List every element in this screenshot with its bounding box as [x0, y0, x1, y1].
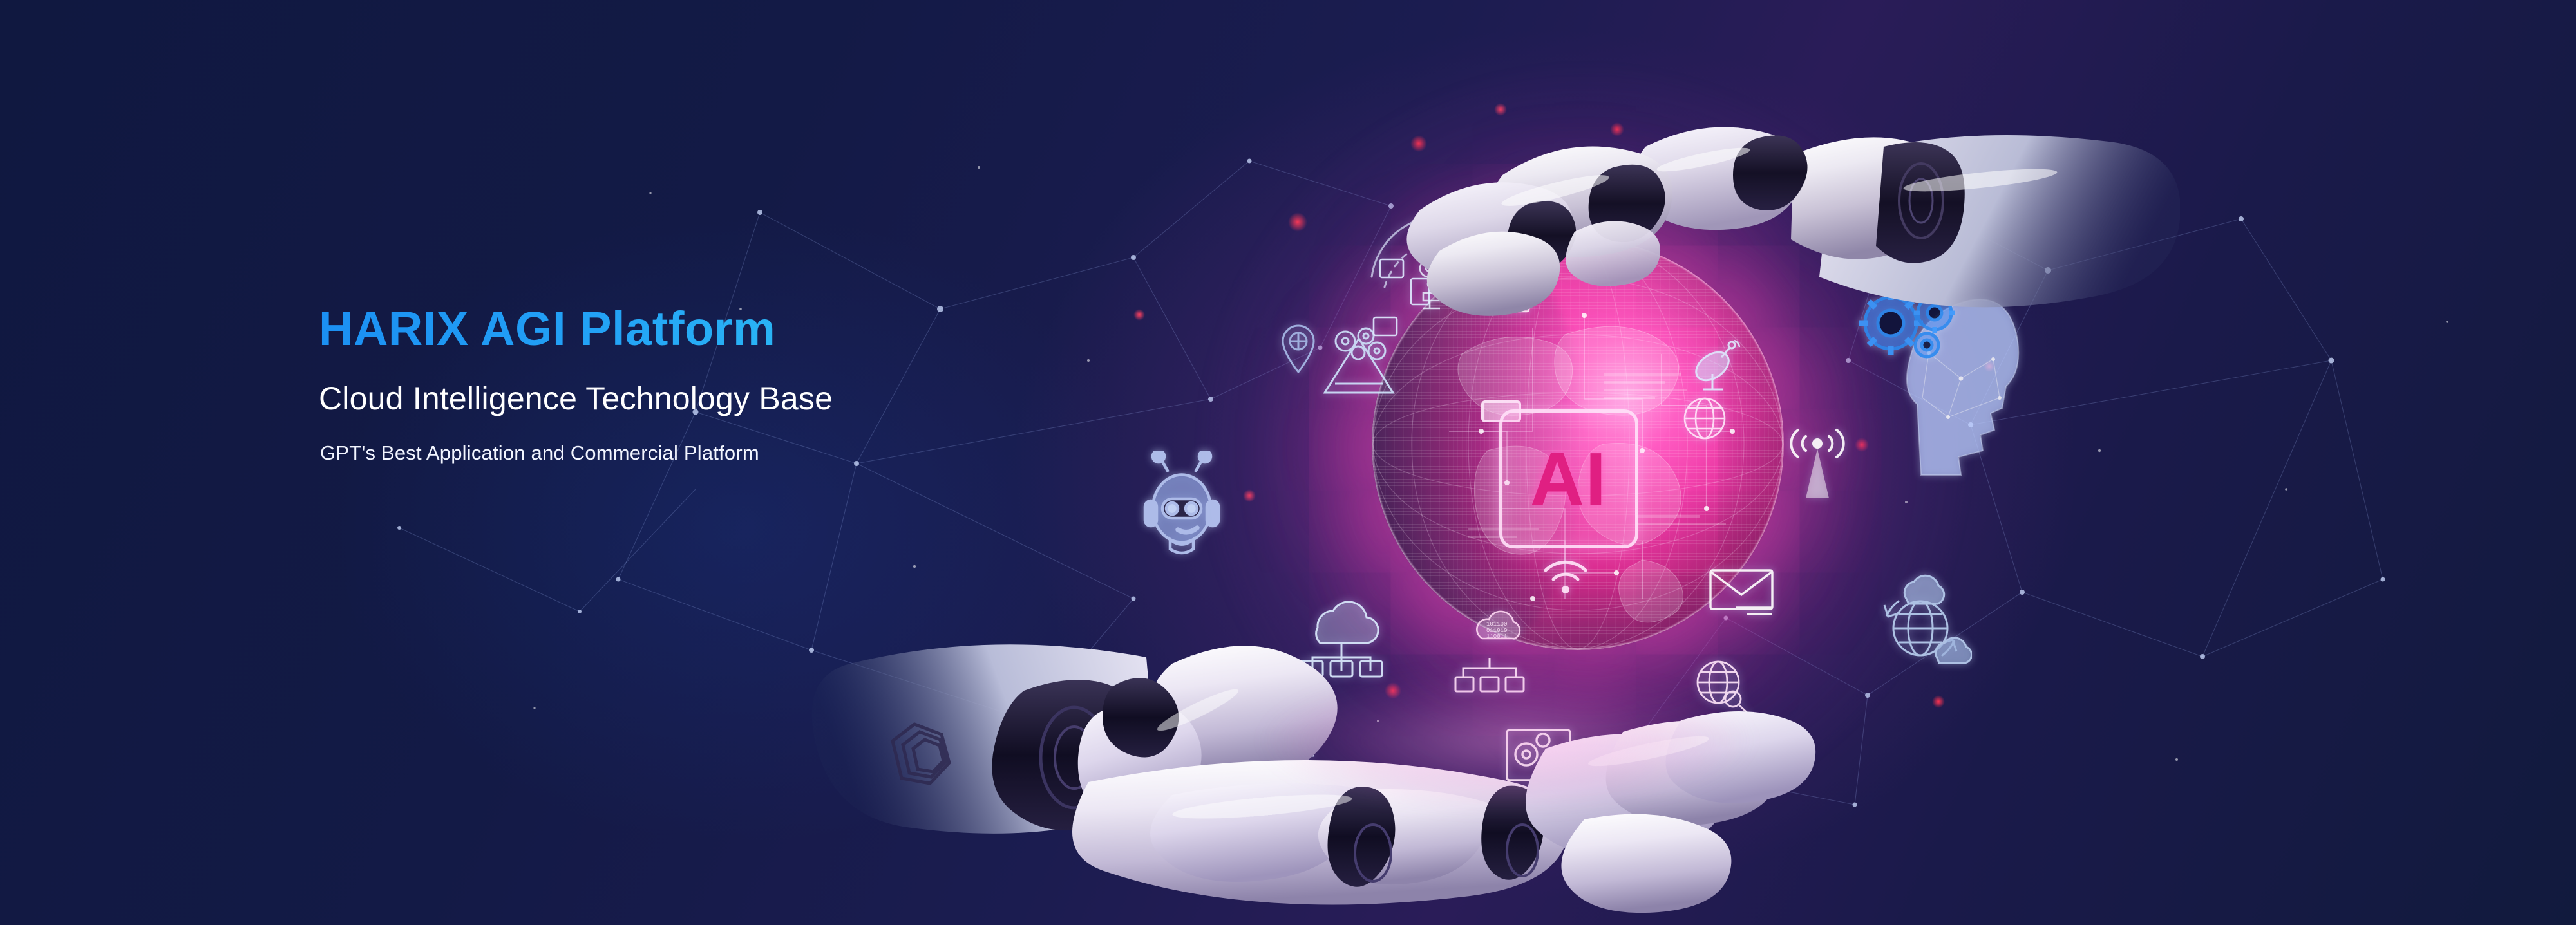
chatbot-head-icon: [1133, 451, 1230, 557]
email-envelope-icon: [1708, 565, 1775, 618]
hero-banner: AI: [0, 0, 2576, 925]
red-particle: [1932, 695, 1945, 708]
page-tagline: GPT's Best Application and Commercial Pl…: [320, 441, 1285, 465]
page-subtitle: Cloud Intelligence Technology Base: [319, 379, 1285, 418]
ai-chip-label: AI: [1530, 442, 1607, 516]
robot-hand-lower: [811, 615, 1816, 925]
hero-text-block: HARIX AGI Platform Cloud Intelligence Te…: [319, 303, 1285, 465]
robot-hand-upper: [1343, 77, 2180, 380]
globe-cloud-sync-icon: [1868, 566, 1972, 669]
globe-wire-icon: [1682, 396, 1727, 441]
ai-chip-icon: AI: [1499, 409, 1638, 548]
page-title: HARIX AGI Platform: [319, 303, 1285, 356]
wifi-tower-icon: [1784, 418, 1851, 502]
wifi-icon: [1540, 556, 1591, 596]
